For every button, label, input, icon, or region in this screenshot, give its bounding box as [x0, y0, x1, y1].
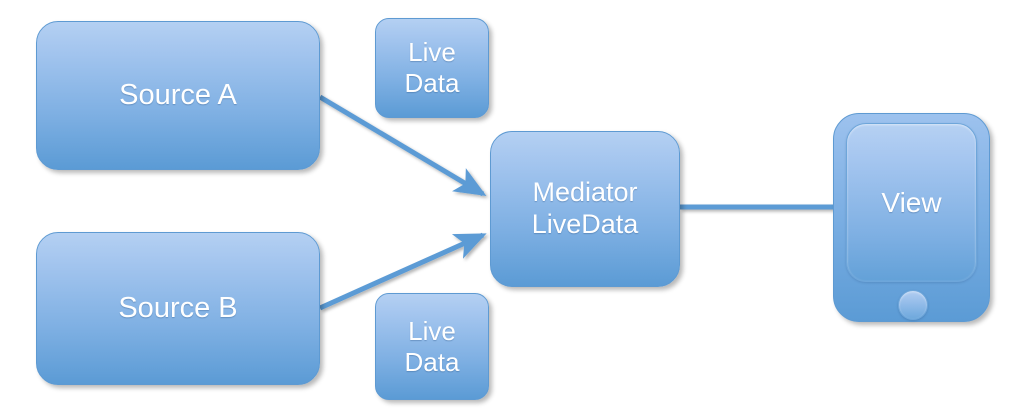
node-live-data-bottom-label: Live Data: [405, 316, 460, 377]
node-view-device[interactable]: View: [833, 113, 990, 322]
node-live-data-bottom[interactable]: Live Data: [375, 293, 489, 400]
node-live-data-top-label: Live Data: [405, 37, 460, 98]
node-source-a-label: Source A: [119, 78, 237, 112]
device-screen[interactable]: View: [846, 123, 977, 282]
device-home-button[interactable]: [898, 290, 928, 320]
node-mediator-livedata-label: Mediator LiveData: [532, 177, 639, 241]
node-mediator-livedata[interactable]: Mediator LiveData: [490, 131, 680, 287]
node-live-data-top[interactable]: Live Data: [375, 18, 489, 118]
node-view-label: View: [881, 187, 941, 219]
node-source-b[interactable]: Source B: [36, 232, 320, 385]
node-source-a[interactable]: Source A: [36, 21, 320, 170]
diagram-canvas: Source A Source B Live Data Live Data Me…: [0, 0, 1024, 420]
node-source-b-label: Source B: [118, 291, 237, 325]
